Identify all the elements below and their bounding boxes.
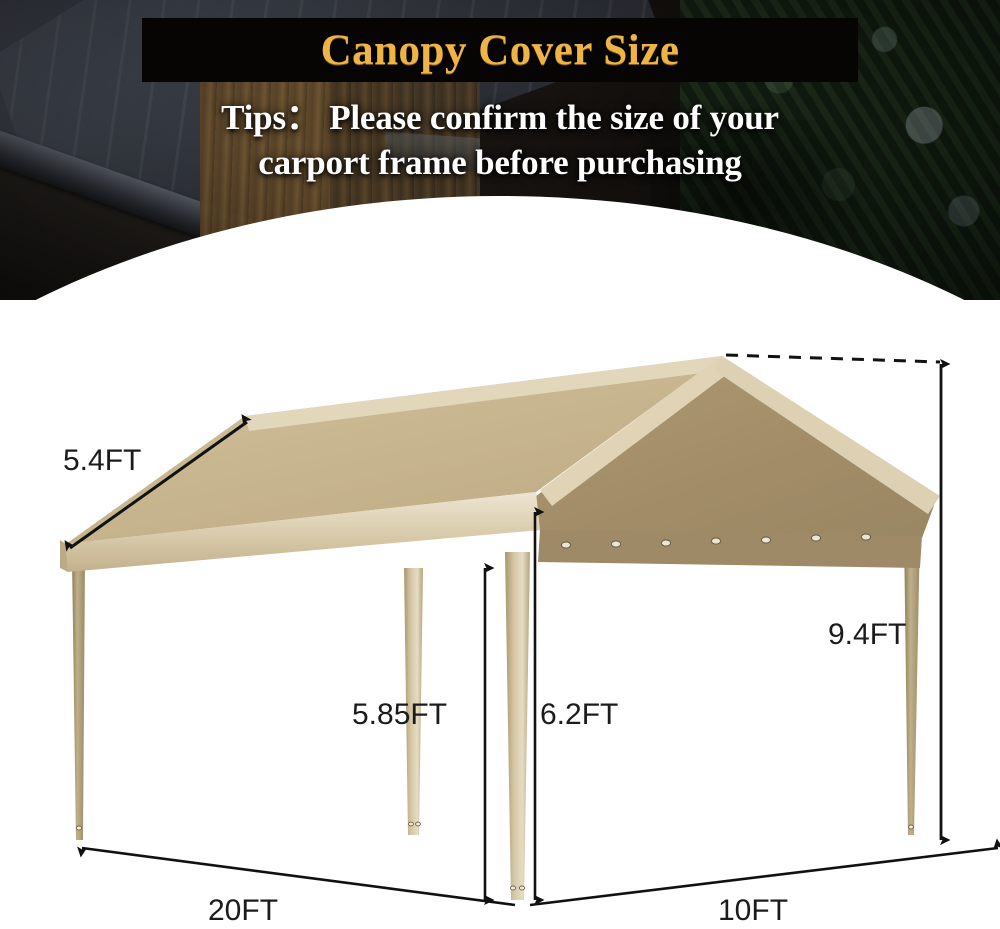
subtitle-tips: Tips： Please confirm the size of your ca… — [0, 96, 1000, 186]
peak-projection-dotted-line — [726, 355, 940, 362]
dimension-label-eave-height: 6.2FT — [540, 698, 618, 731]
dimension-length: 20FT — [82, 848, 515, 927]
foot-grommet — [76, 826, 81, 830]
grommet — [811, 535, 820, 541]
page-title: Canopy Cover Size — [321, 26, 680, 75]
subtitle-line-2: carport frame before purchasing — [0, 141, 1000, 186]
foot-grommet — [909, 825, 914, 829]
grommet — [661, 540, 670, 546]
dimension-label-roof-slope: 5.4FT — [63, 444, 141, 477]
dimension-label-width: 10FT — [718, 894, 788, 927]
grommet — [561, 542, 570, 548]
canopy-dimension-diagram: 5.4FT 5.85FT 6.2FT 9.4FT 20FT — [0, 300, 1000, 929]
canopy-illustration — [60, 356, 940, 900]
dimension-label-inner-height: 5.85FT — [352, 698, 447, 731]
canopy-leg-rear-left — [72, 558, 85, 840]
dimension-label-peak-height: 9.4FT — [828, 618, 906, 651]
grommet — [761, 537, 770, 543]
subtitle-line-1: Tips： Please confirm the size of your — [0, 96, 1000, 141]
foot-grommet — [519, 886, 524, 890]
canopy-leg-center — [505, 552, 530, 900]
dimension-eave-height: 6.2FT — [535, 512, 618, 900]
grommet — [711, 538, 720, 544]
dimension-width: 10FT — [530, 848, 998, 927]
grommet — [611, 541, 620, 547]
infographic-canvas: Canopy Cover Size Tips： Please confirm t… — [0, 0, 1000, 929]
foot-grommet — [416, 822, 421, 826]
grommet — [861, 534, 870, 540]
title-banner: Canopy Cover Size — [142, 18, 858, 82]
canopy-leg-rear-right — [904, 532, 920, 835]
foot-grommet — [510, 886, 515, 890]
foot-grommet — [409, 822, 414, 826]
leg-foot-grommets — [76, 822, 913, 890]
dimension-label-length: 20FT — [208, 894, 278, 927]
